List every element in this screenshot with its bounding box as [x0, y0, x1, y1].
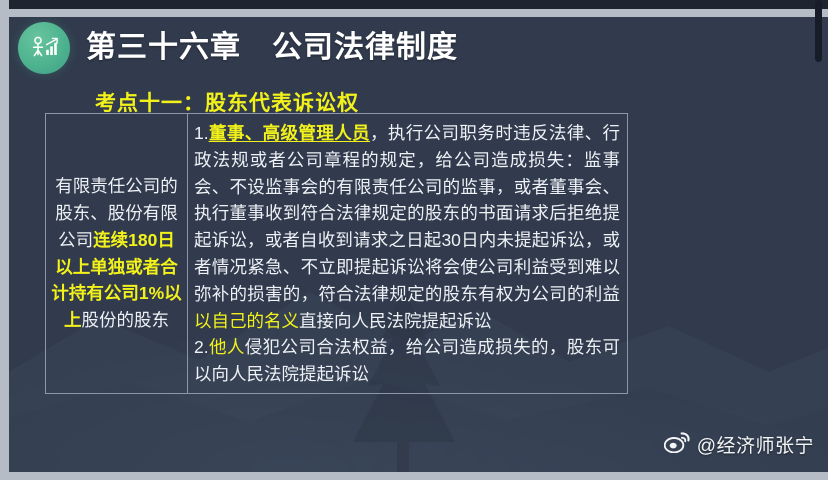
top-dark-strip [0, 0, 828, 9]
table-cell-subject: 有限责任公司的股东、股份有限公司连续180日以上单独或者合计持有公司1%以上股份… [46, 114, 188, 393]
weibo-icon [664, 432, 690, 458]
provision-item: 2.他人侵犯公司合法权益，给公司造成损失的，股东可以向人民法院提起诉讼 [194, 334, 620, 388]
provision-number: 2. [194, 337, 209, 357]
left-frame-rail [0, 0, 9, 480]
vertical-scrollbar-track[interactable] [815, 0, 822, 480]
chapter-heading-row: 第三十六章 公司法律制度 [18, 22, 458, 74]
slide-viewer: 第三十六章 公司法律制度 考点十一：股东代表诉讼权 有限责任公司的股东、股份有限… [0, 0, 828, 480]
provision-list: 1.董事、高级管理人员，执行公司职务时违反法律、行政法规或者公司章程的规定，给公… [194, 120, 620, 388]
page-title: 第三十六章 公司法律制度 [86, 33, 458, 63]
weibo-watermark: @经济师张宁 [664, 431, 814, 458]
text-segment: 他人 [209, 337, 245, 357]
person-bar-chart-icon [18, 22, 70, 74]
subject-text: 有限责任公司的股东、股份有限公司连续180日以上单独或者合计持有公司1%以上股份… [50, 173, 183, 334]
text-segment: 股份的股东 [82, 310, 170, 330]
text-segment: 以自己的名义 [194, 311, 299, 331]
top-frame-bar [0, 9, 828, 17]
text-segment: 连续180日 [93, 230, 175, 250]
law-content-table: 有限责任公司的股东、股份有限公司连续180日以上单独或者合计持有公司1%以上股份… [45, 113, 628, 394]
provision-number: 1. [194, 123, 209, 143]
text-segment: 侵犯公司合法权益，给公司造成损失的，股东可以向人民法院提起诉讼 [194, 337, 620, 384]
vertical-scrollbar-thumb[interactable] [815, 0, 822, 62]
table-cell-provisions: 1.董事、高级管理人员，执行公司职务时违反法律、行政法规或者公司章程的规定，给公… [188, 114, 627, 393]
provision-item: 1.董事、高级管理人员，执行公司职务时违反法律、行政法规或者公司章程的规定，给公… [194, 120, 620, 334]
bottom-frame-rail [0, 472, 828, 480]
slide-surface: 第三十六章 公司法律制度 考点十一：股东代表诉讼权 有限责任公司的股东、股份有限… [9, 17, 828, 472]
text-segment: ，执行公司职务时违反法律、行政法规或者公司章程的规定，给公司造成损失：监事会、不… [194, 123, 620, 304]
text-segment: 直接向人民法院提起诉讼 [299, 311, 492, 331]
text-segment: 董事、高级管理人员 [209, 123, 370, 143]
section-subtitle: 考点十一：股东代表诉讼权 [95, 93, 359, 114]
weibo-handle: @经济师张宁 [697, 431, 814, 458]
